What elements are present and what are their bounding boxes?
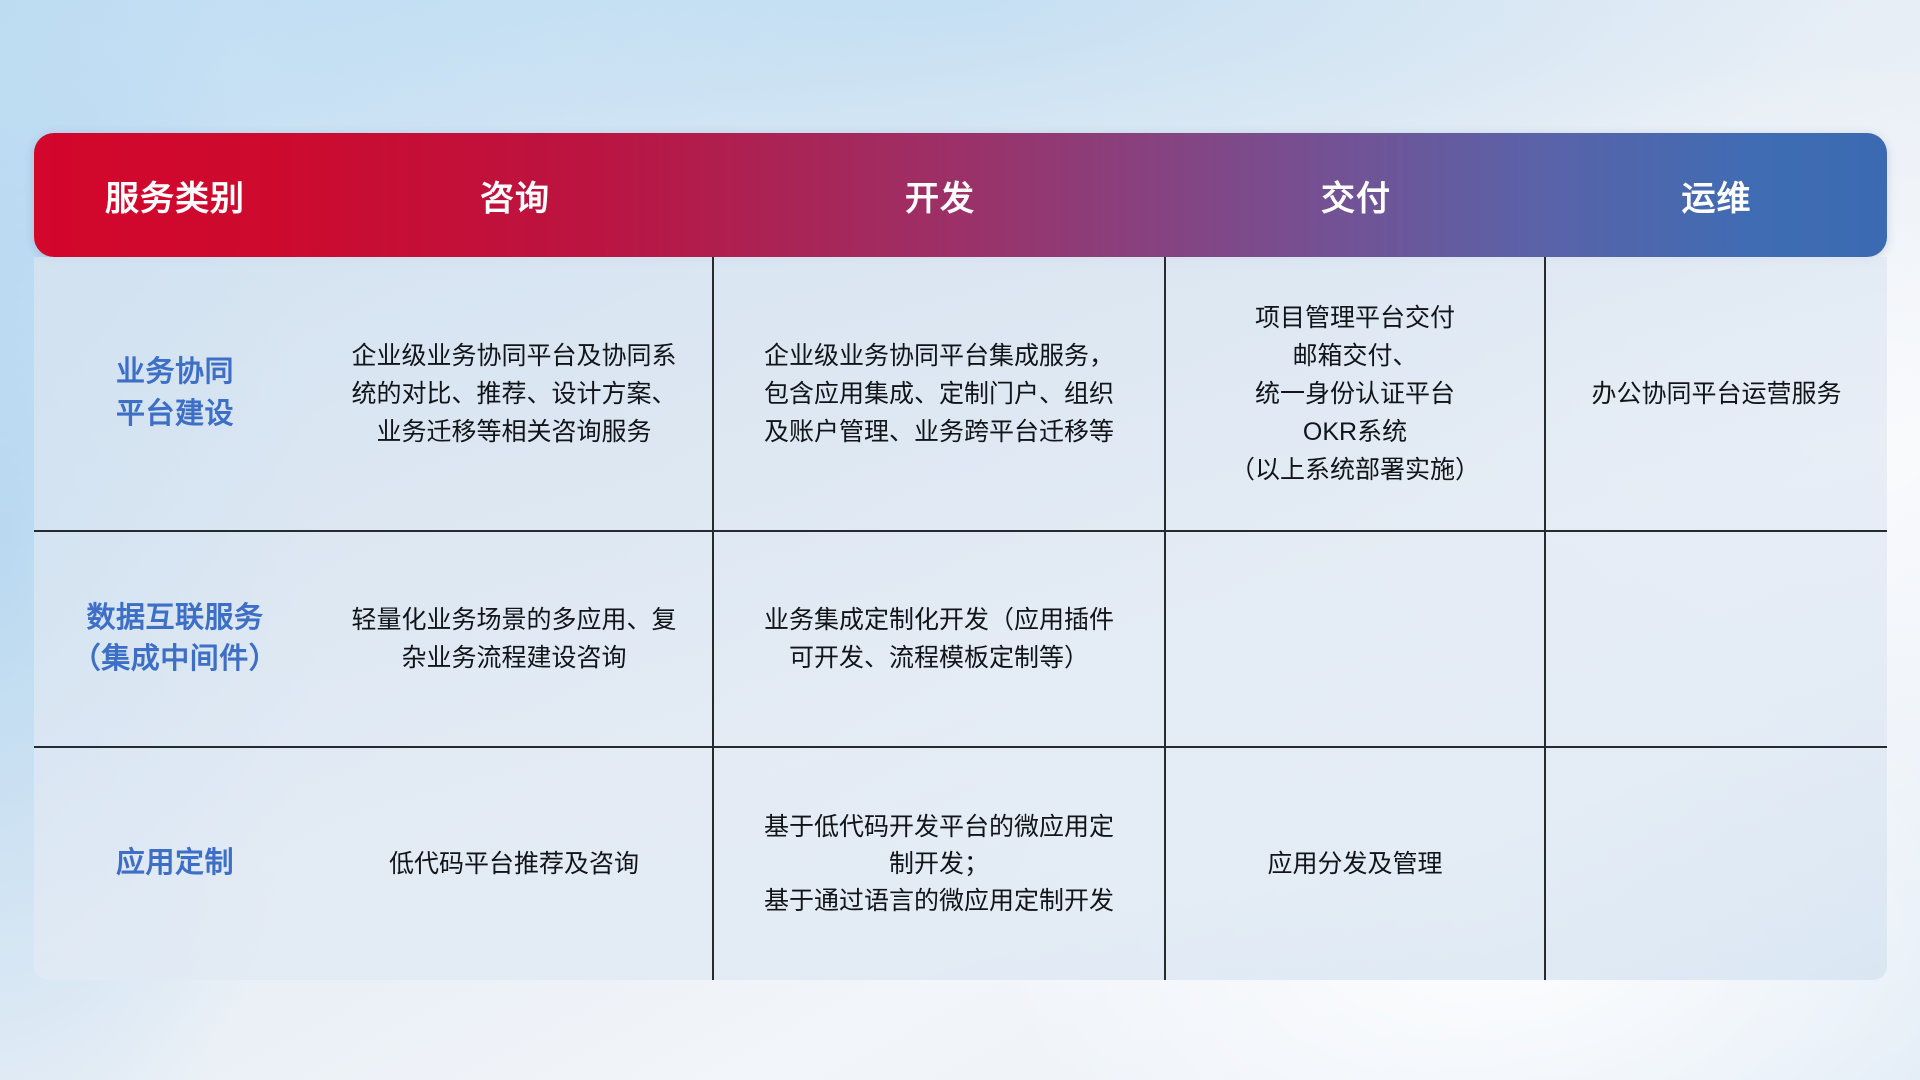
row-label-cell: 数据互联服务 （集成中间件） [34,532,316,746]
cell-develop: 企业级业务协同平台集成服务， 包含应用集成、定制门户、组织 及账户管理、业务跨平… [714,257,1166,530]
cell-operate: 办公协同平台运营服务 [1546,257,1887,530]
table-row: 应用定制 低代码平台推荐及咨询 基于低代码开发平台的微应用定 制开发； 基于通过… [34,746,1887,980]
cell-text: 办公协同平台运营服务 [1591,375,1841,413]
column-header-consult: 咨询 [316,171,714,220]
row-label-text: 数据互联服务 （集成中间件） [72,598,279,680]
cell-text: 企业级业务协同平台集成服务， 包含应用集成、定制门户、组织 及账户管理、业务跨平… [764,337,1114,451]
row-label-cell: 应用定制 [34,748,316,980]
table-row: 数据互联服务 （集成中间件） 轻量化业务场景的多应用、复 杂业务流程建设咨询 业… [34,530,1887,746]
cell-text: 项目管理平台交付 邮箱交付、 统一身份认证平台 OKR系统 （以上系统部署实施） [1230,299,1480,489]
cell-develop: 业务集成定制化开发（应用插件 可开发、流程模板定制等） [714,532,1166,746]
column-header-develop: 开发 [714,171,1166,220]
column-header-deliver: 交付 [1166,171,1546,220]
table-row: 业务协同 平台建设 企业级业务协同平台及协同系 统的对比、推荐、设计方案、 业务… [34,257,1887,530]
cell-text: 业务集成定制化开发（应用插件 可开发、流程模板定制等） [764,601,1114,677]
cell-deliver: 项目管理平台交付 邮箱交付、 统一身份认证平台 OKR系统 （以上系统部署实施） [1166,257,1546,530]
row-label-text: 业务协同 平台建设 [116,352,234,434]
cell-text: 轻量化业务场景的多应用、复 杂业务流程建设咨询 [351,601,676,677]
cell-text: 企业级业务协同平台及协同系 统的对比、推荐、设计方案、 业务迁移等相关咨询服务 [351,337,676,451]
cell-deliver: 应用分发及管理 [1166,748,1546,980]
cell-consult: 轻量化业务场景的多应用、复 杂业务流程建设咨询 [316,532,714,746]
table-body: 业务协同 平台建设 企业级业务协同平台及协同系 统的对比、推荐、设计方案、 业务… [34,257,1887,980]
table-header-row: 服务类别 咨询 开发 交付 运维 [34,133,1887,257]
cell-text: 低代码平台推荐及咨询 [389,845,639,883]
cell-consult: 低代码平台推荐及咨询 [316,748,714,980]
cell-develop: 基于低代码开发平台的微应用定 制开发； 基于通过语言的微应用定制开发 [714,748,1166,980]
cell-text: 应用分发及管理 [1267,845,1442,883]
cell-operate [1546,532,1887,746]
column-header-category: 服务类别 [34,171,316,220]
service-matrix-table: 服务类别 咨询 开发 交付 运维 业务协同 平台建设 企业级业务协同平台及协同系… [34,133,1887,948]
row-label-cell: 业务协同 平台建设 [34,257,316,530]
row-label-text: 应用定制 [116,843,234,884]
cell-text: 基于低代码开发平台的微应用定 制开发； 基于通过语言的微应用定制开发 [764,809,1114,920]
column-header-operate: 运维 [1546,171,1887,220]
cell-operate [1546,748,1887,980]
cell-deliver [1166,532,1546,746]
page-canvas: 服务类别 咨询 开发 交付 运维 业务协同 平台建设 企业级业务协同平台及协同系… [0,0,1920,1080]
cell-consult: 企业级业务协同平台及协同系 统的对比、推荐、设计方案、 业务迁移等相关咨询服务 [316,257,714,530]
